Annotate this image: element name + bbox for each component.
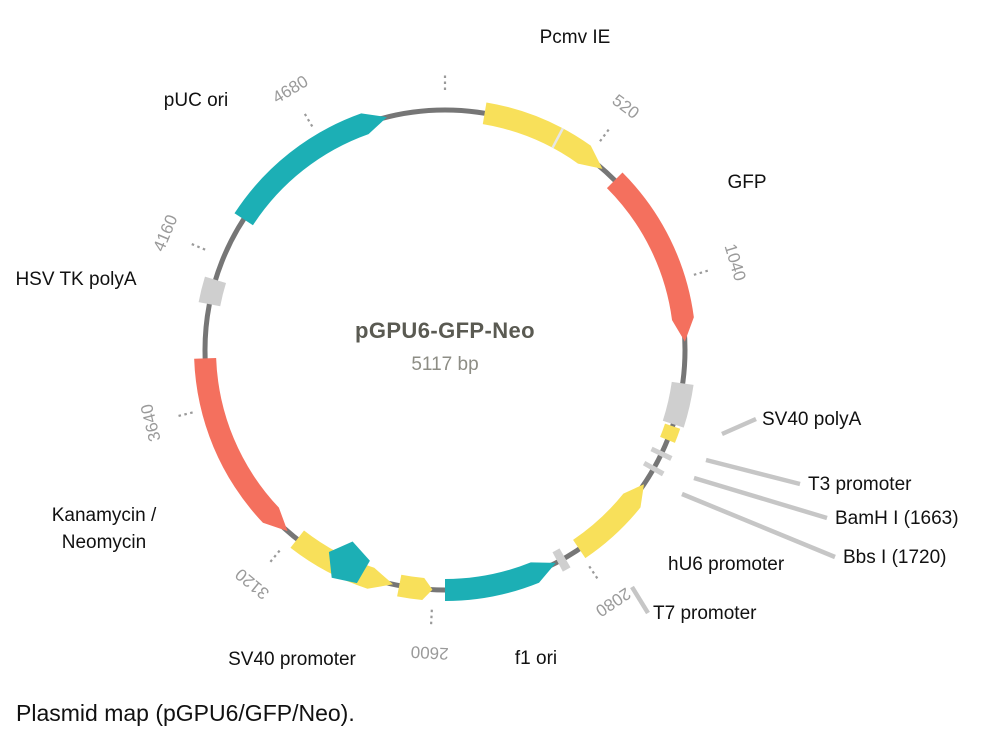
- leader-line-bbs-i-1720-: [682, 494, 835, 557]
- axis-tick-mark: [304, 113, 312, 127]
- figure-caption: Plasmid map (pGPU6/GFP/Neo).: [16, 700, 355, 727]
- axis-tick-mark: [431, 610, 432, 626]
- axis-tick-label-1040: 1040: [721, 242, 750, 284]
- page-title: pGPU6-GFP-Neo: [355, 318, 535, 343]
- feature-label-kanamycin-neomycin-line2: Neomycin: [62, 532, 146, 553]
- feature-label-f1-ori: f1 ori: [515, 648, 557, 669]
- feature-t3-promoter[interactable]: [660, 424, 680, 443]
- feature-label-t3-promoter: T3 promoter: [808, 474, 912, 495]
- feature-label-hu6-promoter: hU6 promoter: [668, 554, 785, 575]
- axis-tick-mark: [177, 412, 193, 416]
- plasmid-size-label: 5117 bp: [411, 354, 478, 375]
- axis-tick-mark: [269, 551, 279, 563]
- leader-line-t3-promoter: [706, 460, 800, 484]
- feature-label-bbs-i-1720-: Bbs I (1720): [843, 547, 947, 568]
- axis-tick-label-2080: 2080: [592, 584, 634, 621]
- axis-tick-mark: [694, 270, 709, 275]
- feature-t7-promoter[interactable]: [553, 548, 571, 571]
- feature-bbs-i-1720-[interactable]: [643, 461, 665, 476]
- axis-tick-mark: [190, 243, 205, 249]
- feature-label-sv40-promoter: SV40 promoter: [228, 649, 356, 670]
- axis-tick-mark: [589, 566, 598, 579]
- feature-pcmv-ie[interactable]: [483, 102, 603, 168]
- feature-kanamycin-neomycin[interactable]: [194, 358, 287, 531]
- feature-sv40-polya[interactable]: [663, 382, 694, 428]
- axis-tick-label-4160: 4160: [149, 212, 181, 254]
- feature-arcs: [194, 102, 694, 601]
- plasmid-map-svg: 5201040208026003120364041604680 Pcmv IEG…: [0, 0, 982, 744]
- feature-gfp[interactable]: [607, 173, 694, 342]
- feature-label-bamh-i-1663-: BamH I (1663): [835, 508, 959, 529]
- feature-label-hsv-tk-polya: HSV TK polyA: [15, 269, 136, 290]
- axis-tick-label-3120: 3120: [232, 564, 273, 603]
- feature-puc-ori[interactable]: [234, 113, 386, 225]
- feature-hu6-promoter[interactable]: [573, 484, 644, 558]
- feature-f1-ori[interactable]: [445, 562, 556, 601]
- axis-tick-label-4680: 4680: [269, 72, 311, 108]
- feature-label-puc-ori: pUC ori: [164, 90, 228, 111]
- leader-line-sv40-polya: [722, 419, 756, 434]
- plasmid-map-figure: 5201040208026003120364041604680 Pcmv IEG…: [0, 0, 982, 744]
- feature-hsv-tk-polya[interactable]: [199, 277, 226, 307]
- feature-label-gfp: GFP: [727, 172, 766, 193]
- axis-tick-label-2600: 2600: [410, 642, 449, 663]
- feature-label-pcmv-ie: Pcmv IE: [540, 27, 611, 48]
- feature-label-t7-promoter: T7 promoter: [653, 603, 757, 624]
- feature-label-sv40-polya: SV40 polyA: [762, 409, 862, 430]
- feature-label-kanamycin-neomycin: Kanamycin /: [52, 505, 157, 526]
- axis-tick-label-3640: 3640: [137, 402, 165, 443]
- axis-tick-mark: [600, 128, 610, 141]
- feature-f1-ori-small-arrow[interactable]: [397, 575, 432, 600]
- axis-tick-label-520: 520: [609, 91, 643, 123]
